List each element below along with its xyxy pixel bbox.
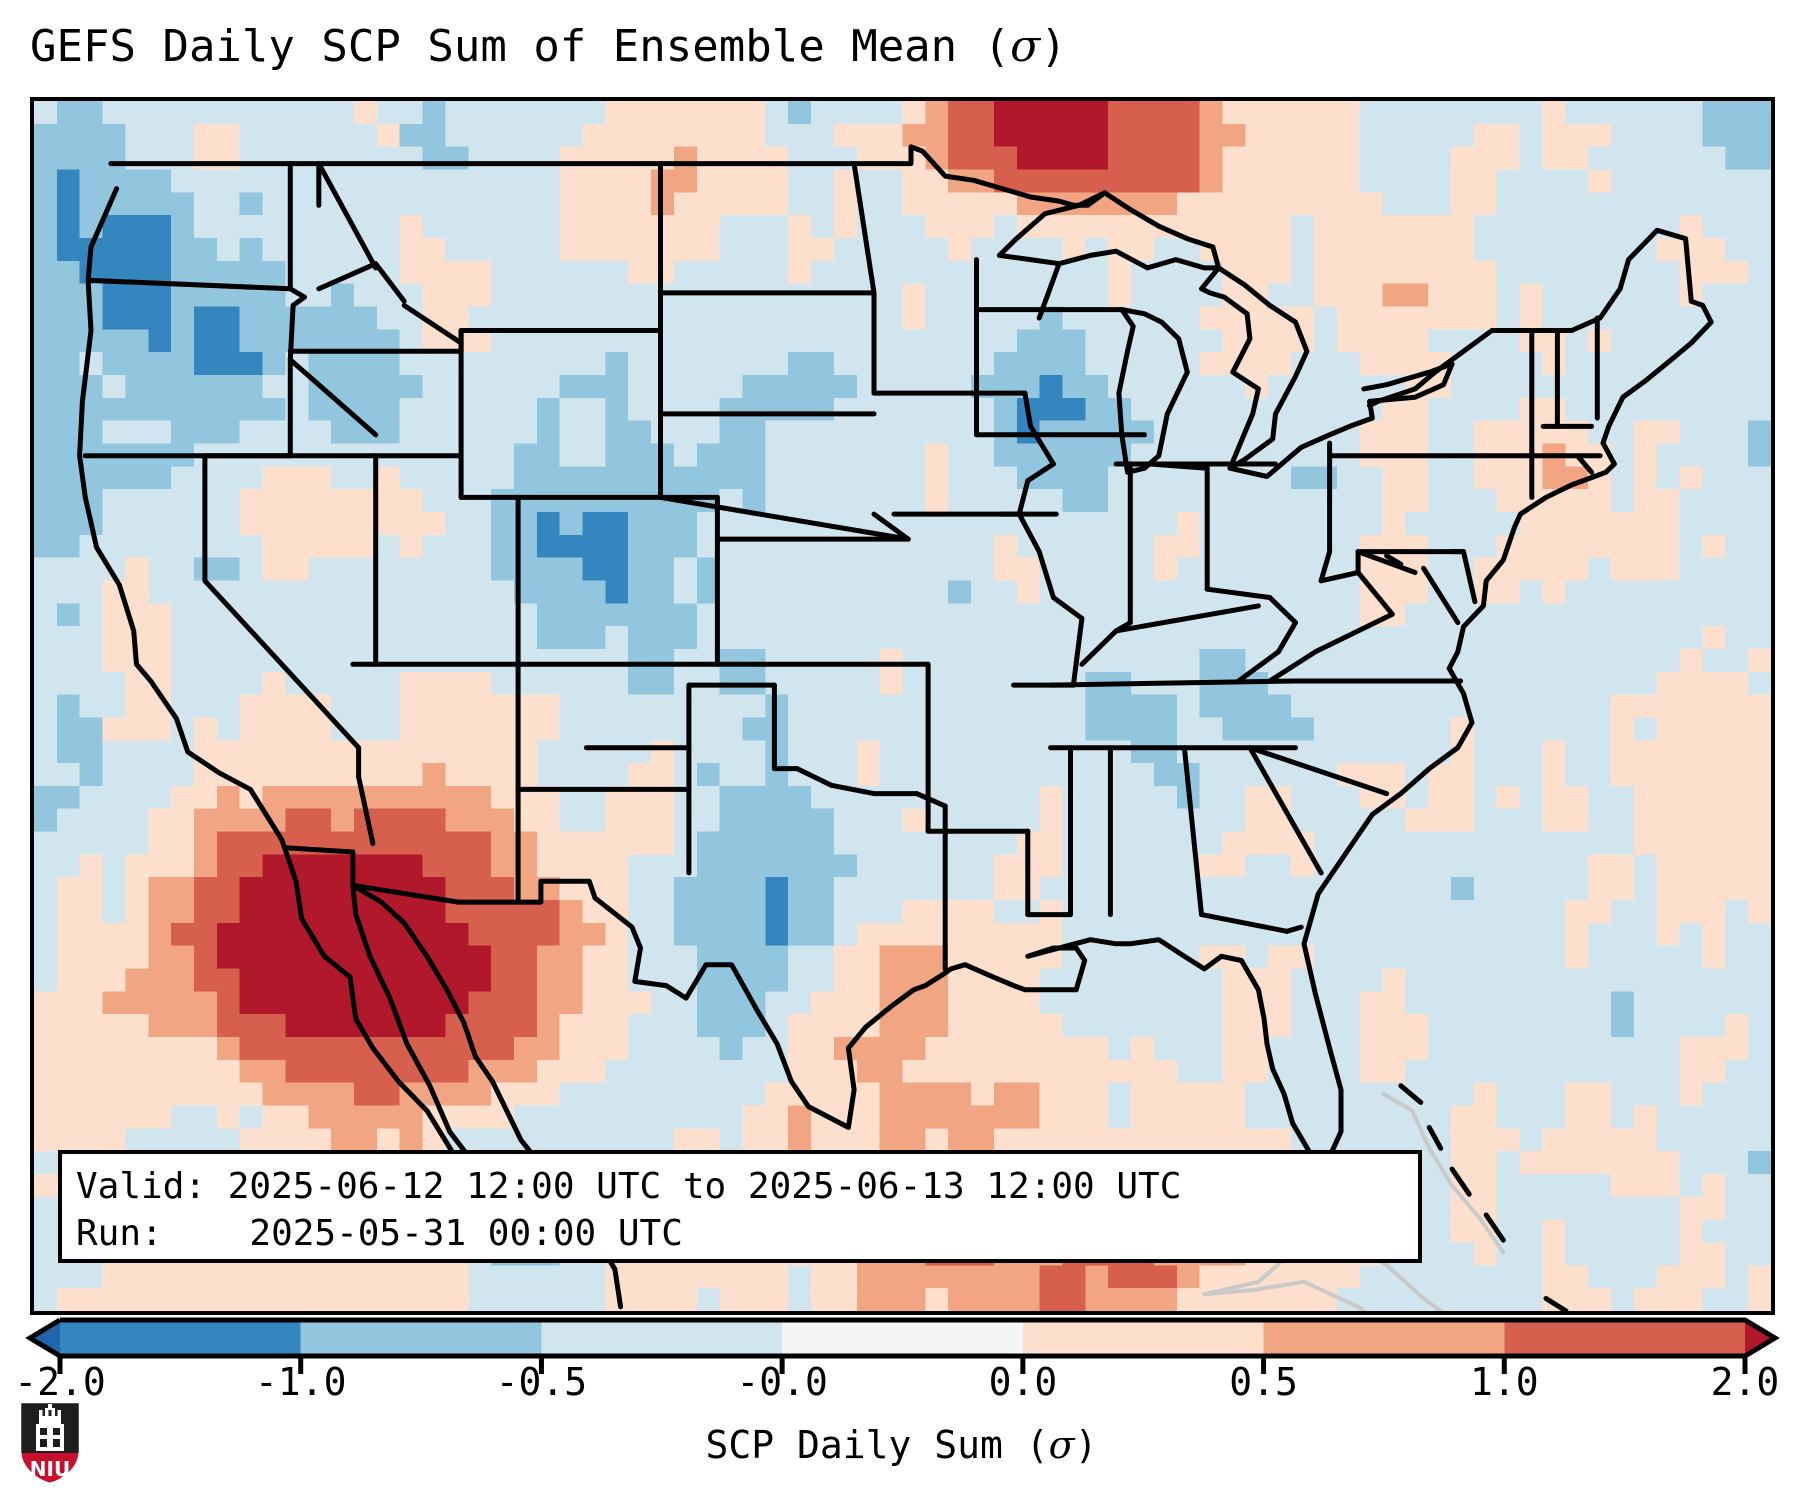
colorbar-tick-label: 1.0 [1470, 1360, 1539, 1404]
colorbar-band [1504, 1320, 1745, 1356]
colorbar-tick-label: -0.0 [736, 1360, 828, 1404]
colorbar-axis-label: SCP Daily Sum (σ) [0, 1422, 1803, 1468]
title-suffix: ) [1040, 21, 1067, 72]
cbar-label-suffix: ) [1075, 1423, 1098, 1467]
run-time-line: Run: 2025-05-31 00:00 UTC [76, 1210, 1404, 1257]
colorbar-canvas [30, 1318, 1775, 1358]
niu-logo: NIU [18, 1400, 82, 1486]
colorbar-tick-label: 2.0 [1711, 1360, 1780, 1404]
colorbar-band [782, 1320, 1023, 1356]
colorbar-tick-label: 0.5 [1229, 1360, 1298, 1404]
colorbar-band [1264, 1320, 1505, 1356]
colorbar-band [301, 1320, 542, 1356]
colorbar-band [60, 1320, 301, 1356]
colorbar-tick-label: 0.0 [989, 1360, 1058, 1404]
colorbar-tick-label: -1.0 [255, 1360, 347, 1404]
colorbar-band [1023, 1320, 1264, 1356]
figure-canvas: GEFS Daily SCP Sum of Ensemble Mean (σ) … [0, 0, 1803, 1506]
cbar-label-prefix: SCP Daily Sum ( [705, 1423, 1048, 1467]
colorbar-tick-label: -2.0 [14, 1360, 106, 1404]
colorbar-tick-label: -0.5 [496, 1360, 588, 1404]
valid-period-line: Valid: 2025-06-12 12:00 UTC to 2025-06-1… [76, 1163, 1404, 1210]
colorbar-band [541, 1320, 782, 1356]
scp-anomaly-heatmap-layer [34, 101, 1771, 1311]
page-title: GEFS Daily SCP Sum of Ensemble Mean (σ) [30, 22, 1770, 72]
map-plot-area[interactable] [30, 97, 1775, 1315]
colorbar-tick-labels: -2.0-1.0-0.5-0.00.00.51.02.0 [0, 1360, 1803, 1410]
map-canvas [34, 101, 1771, 1311]
cbar-label-sigma-symbol: σ [1049, 1423, 1075, 1467]
title-prefix: GEFS Daily SCP Sum of Ensemble Mean ( [30, 21, 1010, 72]
forecast-info-box: Valid: 2025-06-12 12:00 UTC to 2025-06-1… [58, 1150, 1422, 1263]
colorbar[interactable] [30, 1318, 1775, 1358]
title-sigma-symbol: σ [1010, 21, 1040, 72]
